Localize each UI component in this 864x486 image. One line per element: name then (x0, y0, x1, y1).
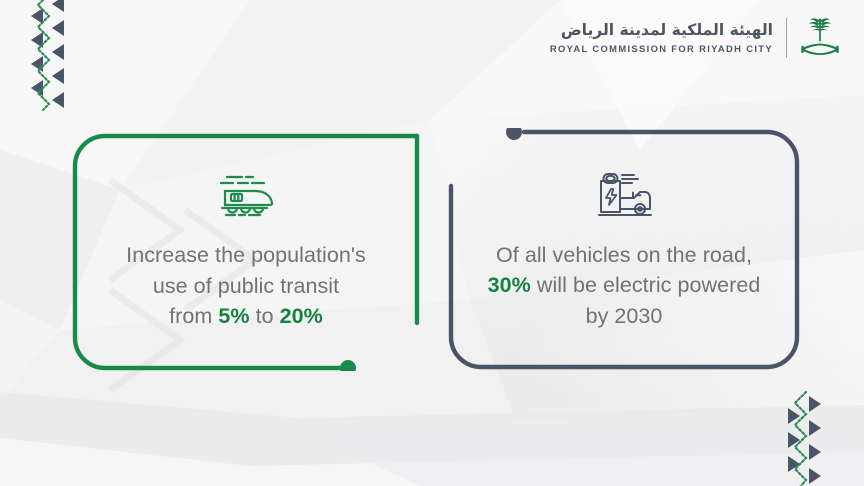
card-public-transit-line1: Increase the population's (126, 240, 366, 271)
card-public-transit-line2: use of public transit (126, 271, 366, 302)
stat-to-value: 20% (280, 304, 323, 328)
card-ev-line2: 30% will be electric powered (488, 270, 761, 301)
slide-canvas: الهيئة الملكية لمدينة الرياض ROYAL COMMI… (0, 0, 864, 486)
train-icon (215, 172, 277, 220)
chevron-pattern-top-left (24, 0, 70, 112)
card-public-transit-text: Increase the population's use of public … (112, 240, 380, 332)
chevron-pattern-bottom-right (781, 390, 827, 486)
line3-pre: from (169, 304, 218, 328)
card-electric-vehicles[interactable]: Of all vehicles on the road, 30% will be… (448, 128, 800, 371)
logo-divider (786, 18, 787, 58)
rcrc-logo: الهيئة الملكية لمدينة الرياض ROYAL COMMI… (550, 16, 840, 60)
card-public-transit-line3: from 5% to 20% (126, 301, 366, 332)
card-electric-vehicles-text: Of all vehicles on the road, 30% will be… (474, 240, 775, 332)
card-ev-line1: Of all vehicles on the road, (488, 240, 761, 271)
line2-post: will be electric powered (531, 273, 761, 297)
line3-mid: to (250, 304, 280, 328)
ev-charging-station-icon (595, 168, 653, 220)
logo-arabic-text: الهيئة الملكية لمدينة الرياض (561, 23, 773, 39)
logo-wordmark: الهيئة الملكية لمدينة الرياض ROYAL COMMI… (550, 23, 773, 53)
card-public-transit[interactable]: Increase the population's use of public … (72, 133, 420, 371)
stat-from-value: 5% (218, 304, 249, 328)
saudi-emblem-icon (800, 16, 840, 60)
logo-english-text: ROYAL COMMISSION FOR RIYADH CITY (550, 44, 773, 53)
stat-ev-percent: 30% (488, 273, 531, 297)
card-ev-line3: by 2030 (488, 301, 761, 332)
